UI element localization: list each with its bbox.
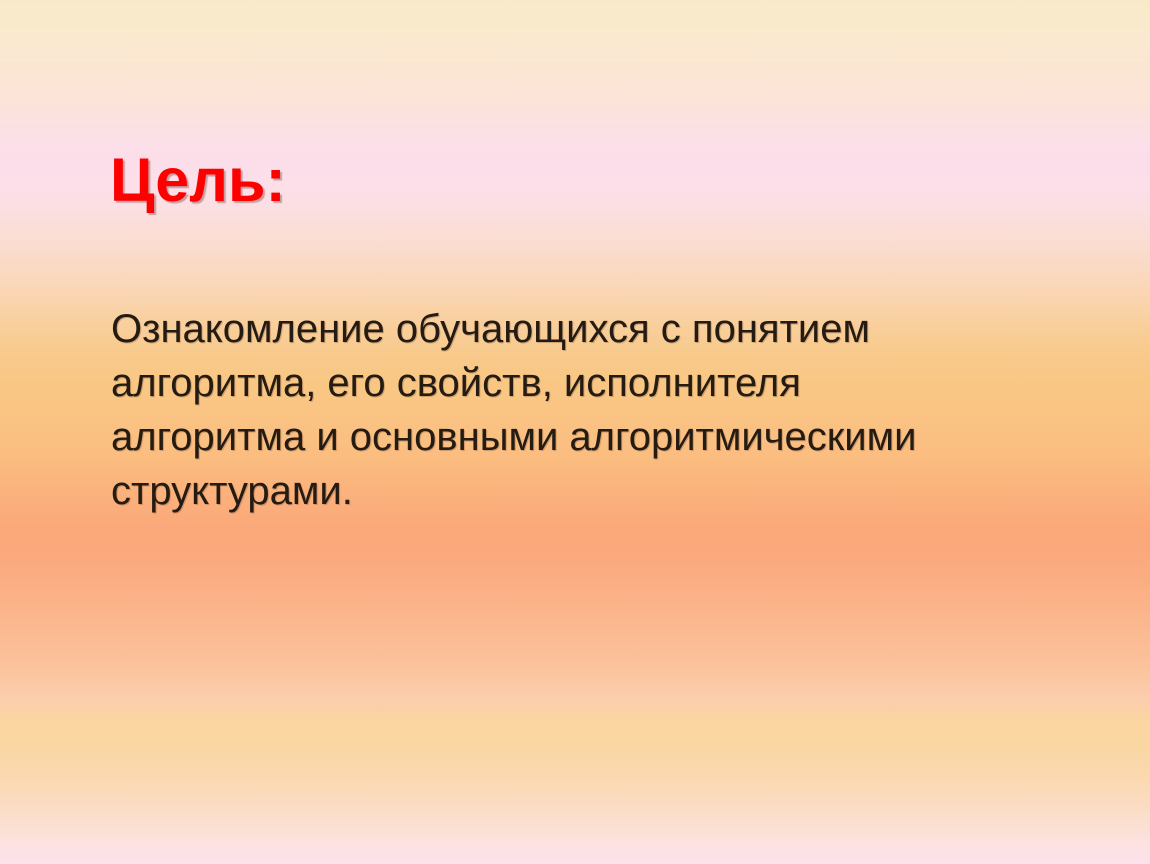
body-line-3: алгоритма и основными алгоритмическими bbox=[111, 410, 1061, 464]
presentation-slide: Цель: Ознакомление обучающихся с понятие… bbox=[0, 0, 1150, 864]
slide-body-text: Ознакомление обучающихся с понятием алго… bbox=[111, 302, 1061, 518]
body-line-4: структурами. bbox=[111, 464, 1061, 518]
body-line-1: Ознакомление обучающихся с понятием bbox=[111, 302, 1061, 356]
body-line-2: алгоритма, его свойств, исполнителя bbox=[111, 356, 1061, 410]
slide-title: Цель: bbox=[110, 148, 286, 212]
slide-content-area: Цель: Ознакомление обучающихся с понятие… bbox=[0, 0, 1150, 864]
